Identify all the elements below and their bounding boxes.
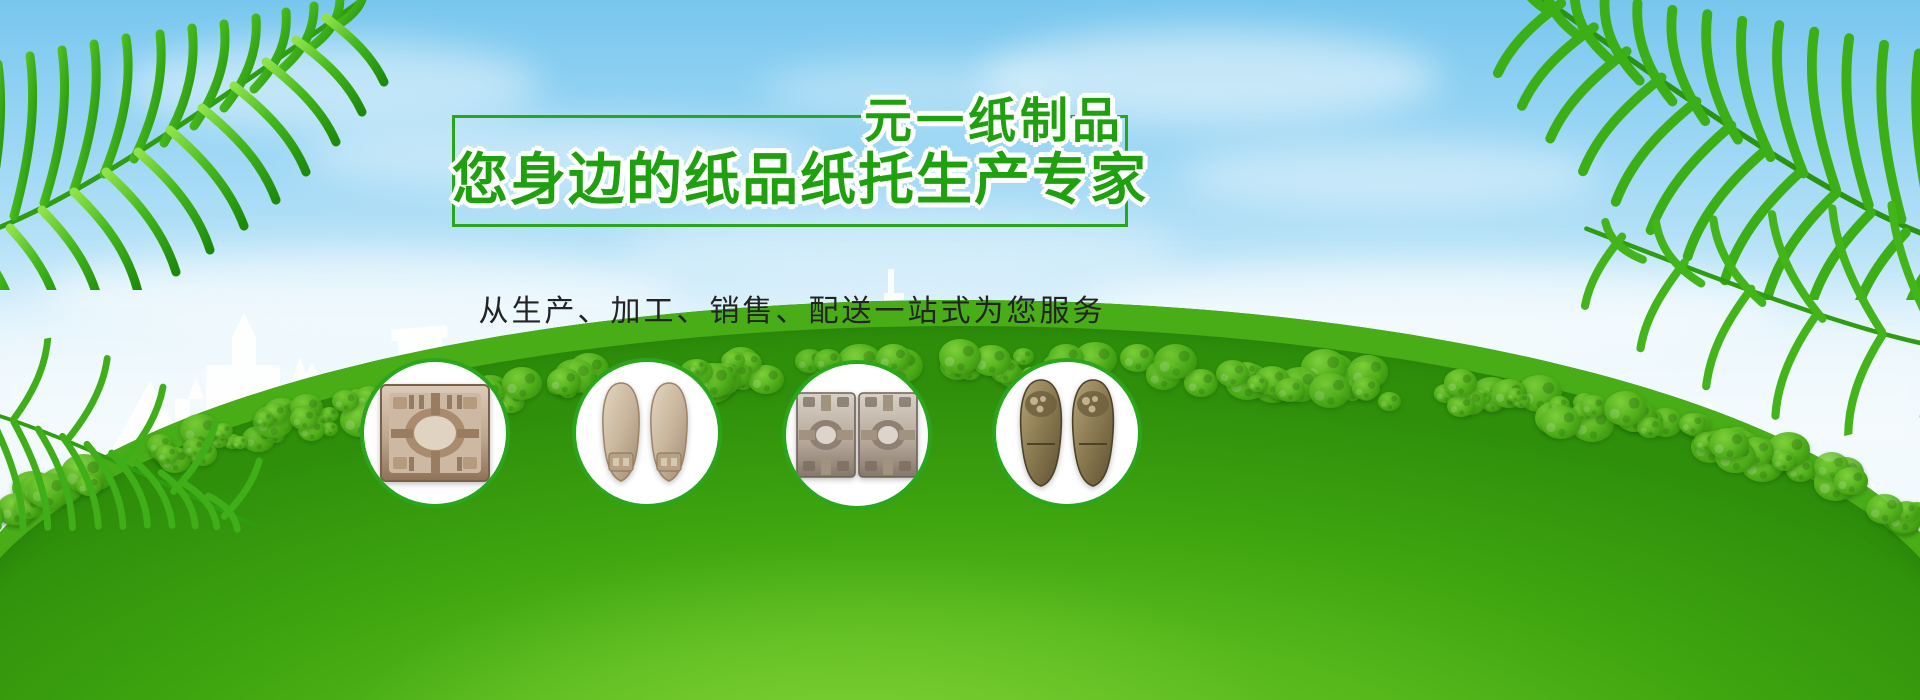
bush-cluster [939,339,981,374]
bush-cluster [1378,392,1401,411]
subtitle-text: 从生产、加工、销售、配送一站式为您服务 [452,286,1132,330]
bush-cluster [1541,406,1581,439]
product-circle-paired-pulp-tray[interactable] [782,360,932,510]
headline-block: 元一纸制品 您身边的纸品纸托生产专家 [452,95,1132,230]
bush-cluster [1447,395,1474,417]
bush-cluster [1275,378,1305,402]
bush-cluster [502,367,542,400]
product-circle-dark-shoe-pulp-tray[interactable] [992,358,1142,508]
shoe-insole-pulp-tray-image [591,375,703,491]
bush-cluster [27,473,71,509]
bush-cluster [1772,451,1796,471]
square-pulp-tray-image [379,381,491,485]
bush-cluster [1352,377,1380,400]
cloud-shape [1180,140,1600,210]
bush-cluster [1604,391,1647,426]
dark-shoe-pulp-tray-image [1009,374,1125,492]
headline-line-1: 元一纸制品 [452,95,1132,147]
product-circle-square-pulp-tray[interactable] [360,358,510,508]
palm-leaf-icon [1480,0,1920,300]
bush-cluster [547,368,581,396]
bush-cluster [1444,369,1477,396]
palm-leaf-icon [0,303,289,607]
bush-cluster [1709,428,1749,461]
headline-line-2: 您身边的纸品纸托生产专家 [452,149,1132,213]
promo-banner: 元一纸制品 您身边的纸品纸托生产专家 从生产、加工、销售、配送一站式为您服务 [0,0,1920,700]
bush-cluster [1866,494,1903,524]
palm-leaf-icon [0,0,400,290]
bush-cluster [1216,360,1250,387]
bush-cluster [1309,373,1351,407]
bush-cluster [183,438,206,457]
product-circle-shoe-insole-pulp-tray[interactable] [572,358,722,508]
paired-pulp-tray-image [795,389,919,481]
bush-cluster [1834,467,1868,495]
bush-cluster [76,475,102,496]
bush-cluster [290,407,318,430]
cloud-shape [1080,260,1780,355]
